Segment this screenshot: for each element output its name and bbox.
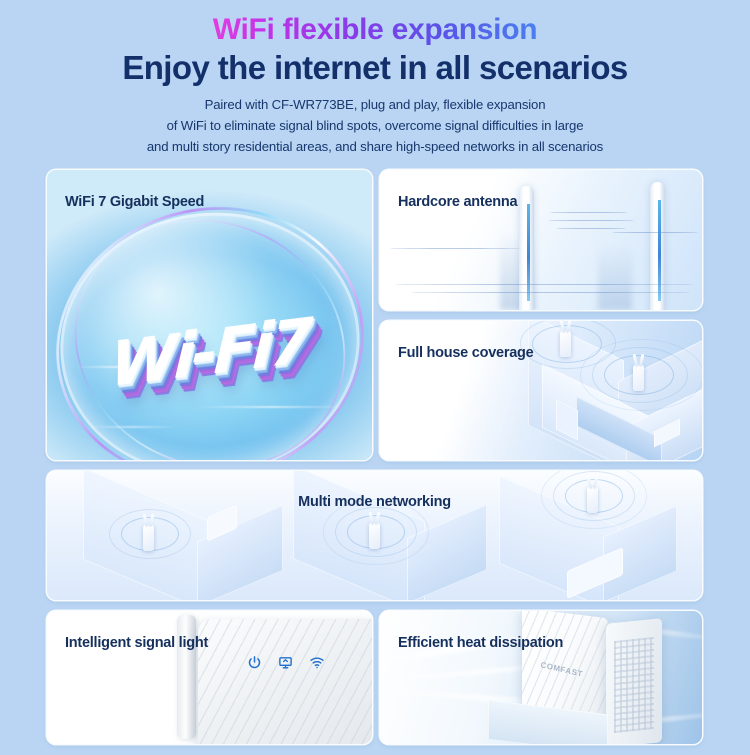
card-label-full-house-coverage: Full house coverage xyxy=(398,345,533,361)
swoosh-3 xyxy=(556,228,626,229)
lan-icon xyxy=(278,655,293,670)
light-streak-3 xyxy=(87,426,177,428)
headline-gradient: WiFi flexible expansion xyxy=(213,12,538,47)
device-front-panel xyxy=(198,619,372,744)
antenna-2 xyxy=(650,182,665,310)
page-root: { "page": { "background_color": "#b9d5f3… xyxy=(0,0,750,750)
light-streak-2 xyxy=(197,406,347,408)
subtitle-line-3: and multi story residential areas, and s… xyxy=(0,137,750,158)
led-indicator-group xyxy=(247,655,325,670)
full-house-artwork xyxy=(380,321,702,460)
swoosh-1 xyxy=(550,212,628,213)
page-title: Enjoy the internet in all scenarios xyxy=(0,48,750,88)
swoosh-5 xyxy=(394,284,694,285)
card-label-hardcore-antenna: Hardcore antenna xyxy=(398,194,517,210)
heat-dissipation-artwork: COMFAST xyxy=(380,611,702,744)
swoosh-2 xyxy=(548,220,634,221)
multi-mode-artwork xyxy=(47,471,702,600)
heat-vents xyxy=(614,637,654,733)
device-side-edge xyxy=(177,615,196,739)
card-label-efficient-heat-dissipation: Efficient heat dissipation xyxy=(398,635,563,651)
page-header: WiFi flexible expansion Enjoy the intern… xyxy=(0,0,750,158)
card-label-intelligent-signal-light: Intelligent signal light xyxy=(65,635,208,651)
device-texture xyxy=(198,619,372,744)
antenna-circuit-strip-2 xyxy=(658,200,662,300)
wifi-icon xyxy=(309,655,325,670)
extender-room-a xyxy=(143,525,154,551)
extender-downstairs xyxy=(633,365,644,391)
power-icon xyxy=(247,655,262,670)
card-full-house-coverage[interactable]: Full house coverage xyxy=(380,321,702,460)
page-subtitle: Paired with CF-WR773BE, plug and play, f… xyxy=(0,95,750,158)
router-body-side xyxy=(606,618,662,744)
antenna-shadow-2 xyxy=(598,244,632,310)
card-multi-mode-networking[interactable]: Multi mode networking xyxy=(47,471,702,600)
card-wifi7-speed[interactable]: Wi-Fi7 WiFi 7 Gigabit Speed xyxy=(47,170,372,460)
card-intelligent-signal-light[interactable]: Intelligent signal light xyxy=(47,611,372,744)
swoosh-6 xyxy=(410,292,690,293)
swoosh-7 xyxy=(612,232,698,233)
card-row-2: Multi mode networking xyxy=(47,471,702,600)
card-efficient-heat-dissipation[interactable]: COMFAST Efficient heat dissipation xyxy=(380,611,702,744)
card-column-right: Hardcore antenna xyxy=(380,170,702,460)
card-label-wifi7-speed: WiFi 7 Gigabit Speed xyxy=(65,194,204,210)
subtitle-line-1: Paired with CF-WR773BE, plug and play, f… xyxy=(0,95,750,116)
extender-room-b xyxy=(369,523,380,549)
swoosh-4 xyxy=(390,248,520,249)
card-label-multi-mode-networking: Multi mode networking xyxy=(47,494,702,510)
extender-upstairs xyxy=(560,331,571,357)
card-hardcore-antenna[interactable]: Hardcore antenna xyxy=(380,170,702,310)
wifi7-artwork: Wi-Fi7 xyxy=(47,170,372,460)
subtitle-line-2: of WiFi to eliminate signal blind spots,… xyxy=(0,116,750,137)
signal-light-artwork xyxy=(47,611,372,744)
card-row-1: Wi-Fi7 WiFi 7 Gigabit Speed xyxy=(47,170,702,460)
card-row-3: Intelligent signal light COMFAST Efficie… xyxy=(47,611,702,744)
antenna-artwork xyxy=(380,170,702,310)
antenna-circuit-strip-1 xyxy=(527,204,531,301)
feature-card-grid: Wi-Fi7 WiFi 7 Gigabit Speed xyxy=(47,170,702,755)
